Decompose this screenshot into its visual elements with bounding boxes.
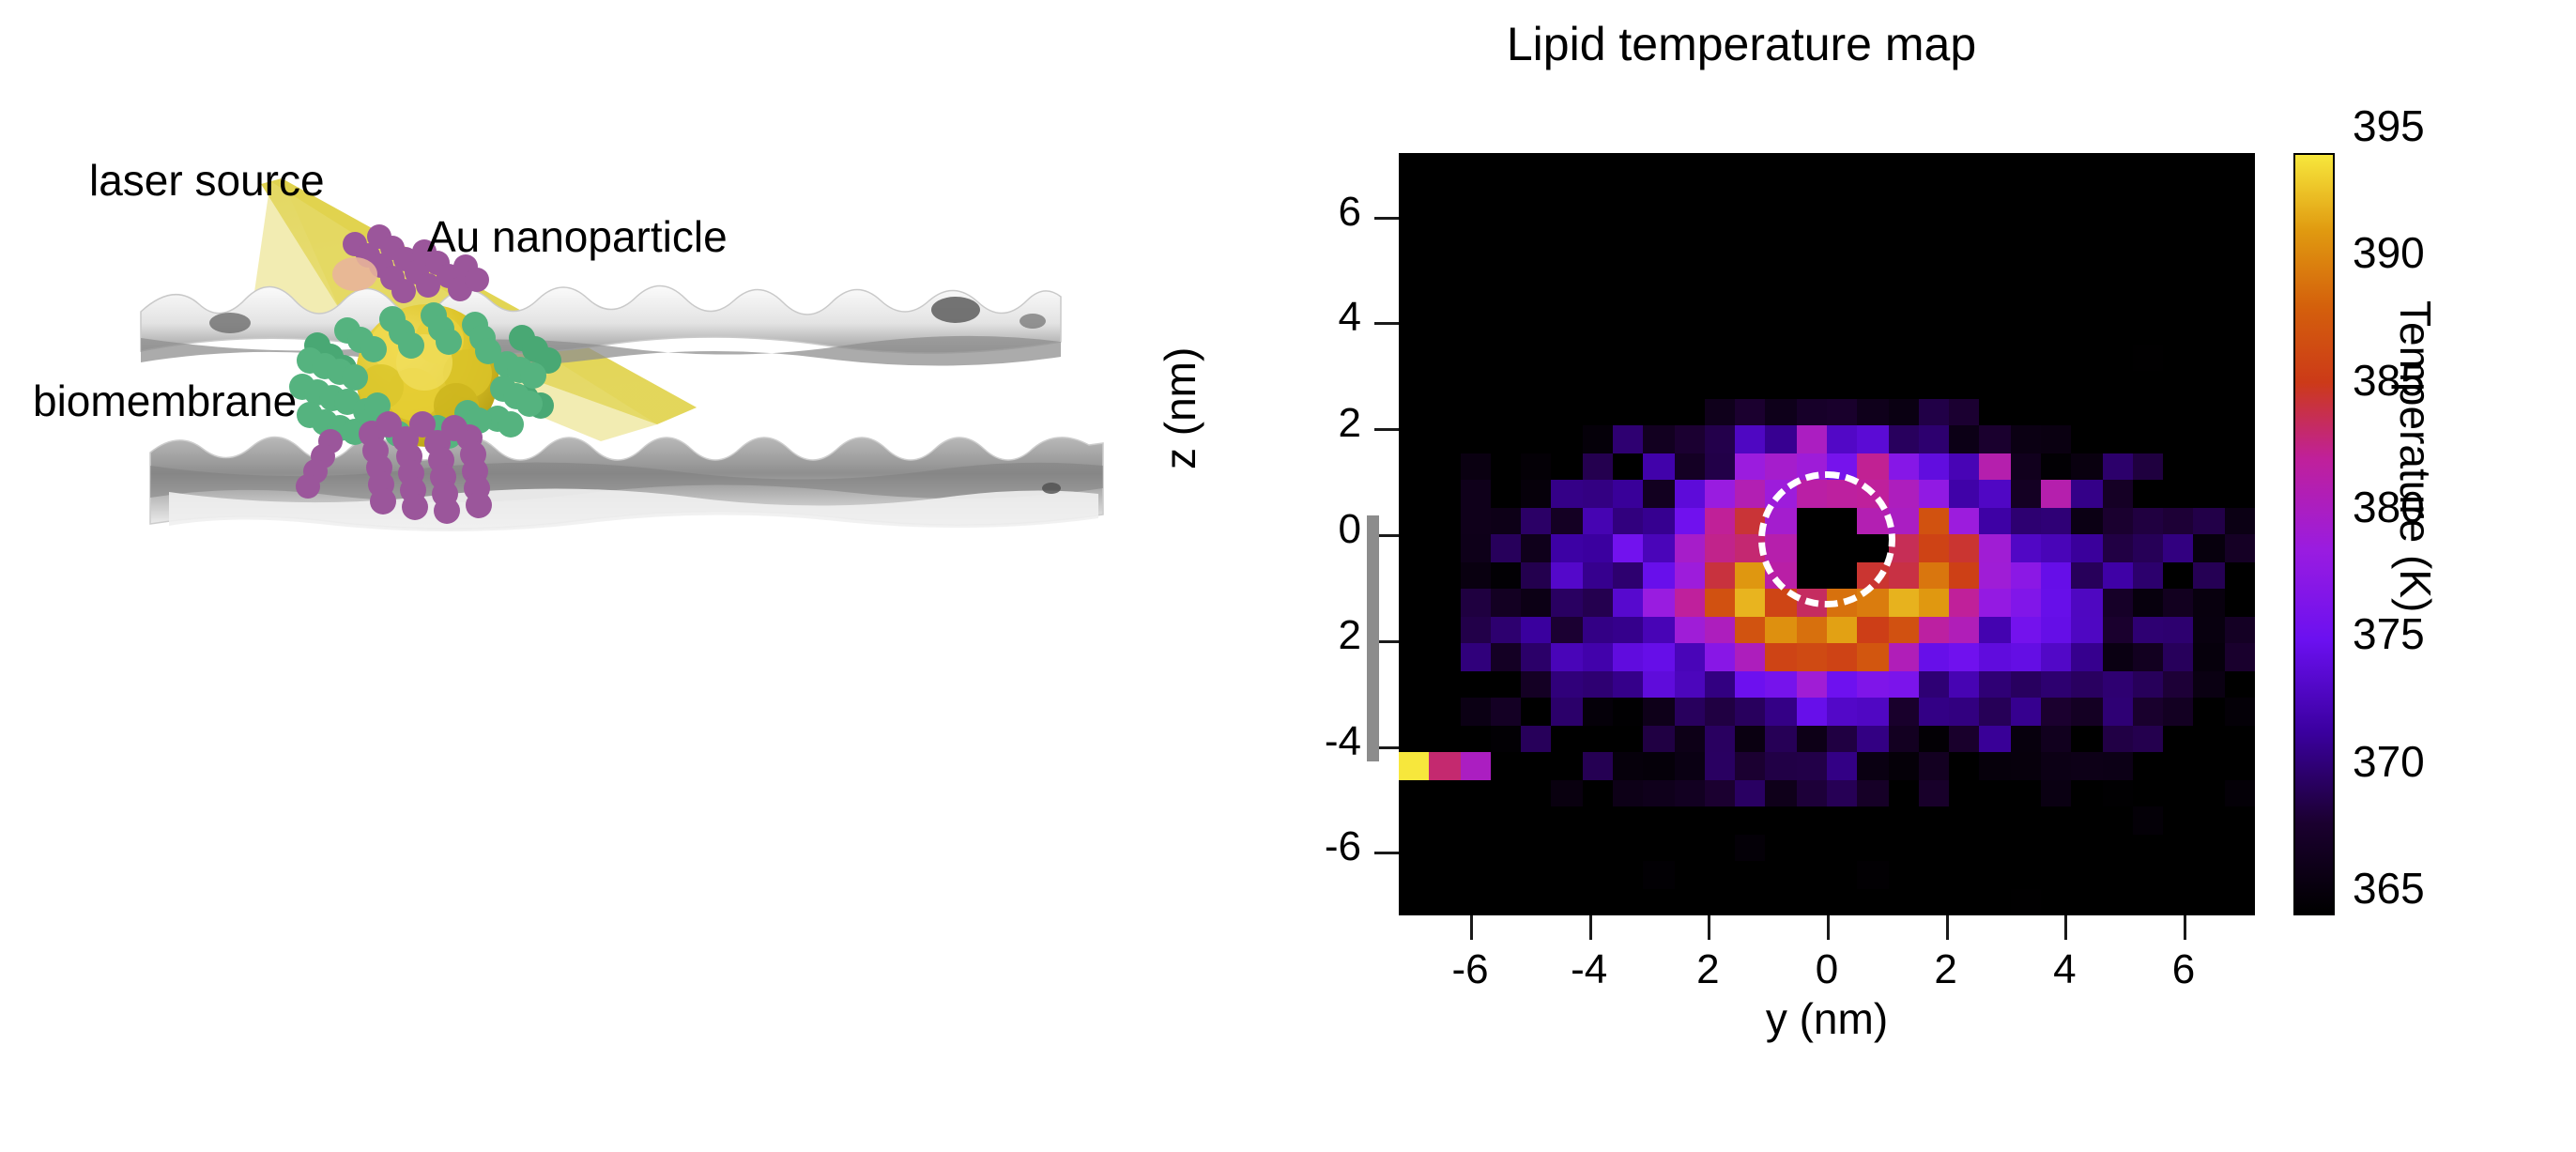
x-tick: [2064, 915, 2067, 940]
colorbar-tick-label: 370: [2353, 736, 2425, 787]
x-tick: [1708, 915, 1710, 940]
x-tick: [1946, 915, 1949, 940]
chart-title: Lipid temperature map: [1230, 17, 2253, 71]
y-tick-label: 2: [1267, 400, 1361, 447]
molecular-illustration-panel: laser source Au nanoparticle biomembrane: [0, 0, 1230, 1147]
x-tick: [2184, 915, 2186, 940]
x-tick-label: 4: [2027, 946, 2102, 993]
y-tick: [1374, 217, 1399, 220]
y-tick: [1374, 428, 1399, 431]
au-nanoparticle-label: Au nanoparticle: [427, 211, 728, 262]
nanoparticle-outline-icon: [1758, 471, 1895, 608]
x-tick-label: 0: [1789, 946, 1864, 993]
colorbar-tick-label: 395: [2353, 100, 2425, 151]
y-tick-label: -6: [1267, 823, 1361, 870]
membrane-top: [141, 285, 1061, 366]
y-axis-label: z (nm): [1155, 347, 1205, 469]
x-tick-label: -4: [1552, 946, 1627, 993]
colorbar-tick-label: 365: [2353, 863, 2425, 914]
x-axis-label: y (nm): [1399, 993, 2255, 1044]
heatmap-plot-area: [1399, 153, 2255, 915]
y-tick-label: 6: [1267, 189, 1361, 236]
colorbar-label: Temperature (K): [2390, 300, 2441, 612]
x-tick-label: 2: [1909, 946, 1984, 993]
y-tick-label: 2: [1267, 612, 1361, 659]
colorbar-tick-label: 390: [2353, 227, 2425, 278]
colorbar-tick-label: 375: [2353, 608, 2425, 659]
membrane-bottom: [150, 437, 1103, 531]
x-tick-label: 6: [2146, 946, 2221, 993]
x-tick-label: -6: [1433, 946, 1508, 993]
lipid-temperature-figure: Lipid temperature map -6-420246 64202-4-…: [1230, 0, 2576, 1147]
y-tick-label: 0: [1267, 506, 1361, 553]
y-tick: [1374, 852, 1399, 854]
laser-source-label: laser source: [89, 155, 325, 206]
x-tick: [1589, 915, 1592, 940]
y-tick-label: -4: [1267, 718, 1361, 765]
z-scalebar: [1367, 515, 1379, 761]
y-tick-label: 4: [1267, 294, 1361, 341]
x-tick: [1470, 915, 1473, 940]
surface-bead-icon: [332, 257, 377, 291]
x-tick: [1827, 915, 1830, 940]
biomembrane-label: biomembrane: [33, 376, 297, 426]
x-tick-label: 2: [1670, 946, 1745, 993]
y-tick: [1374, 322, 1399, 325]
colorbar: [2293, 153, 2335, 915]
colorbar-gradient: [2295, 155, 2333, 914]
